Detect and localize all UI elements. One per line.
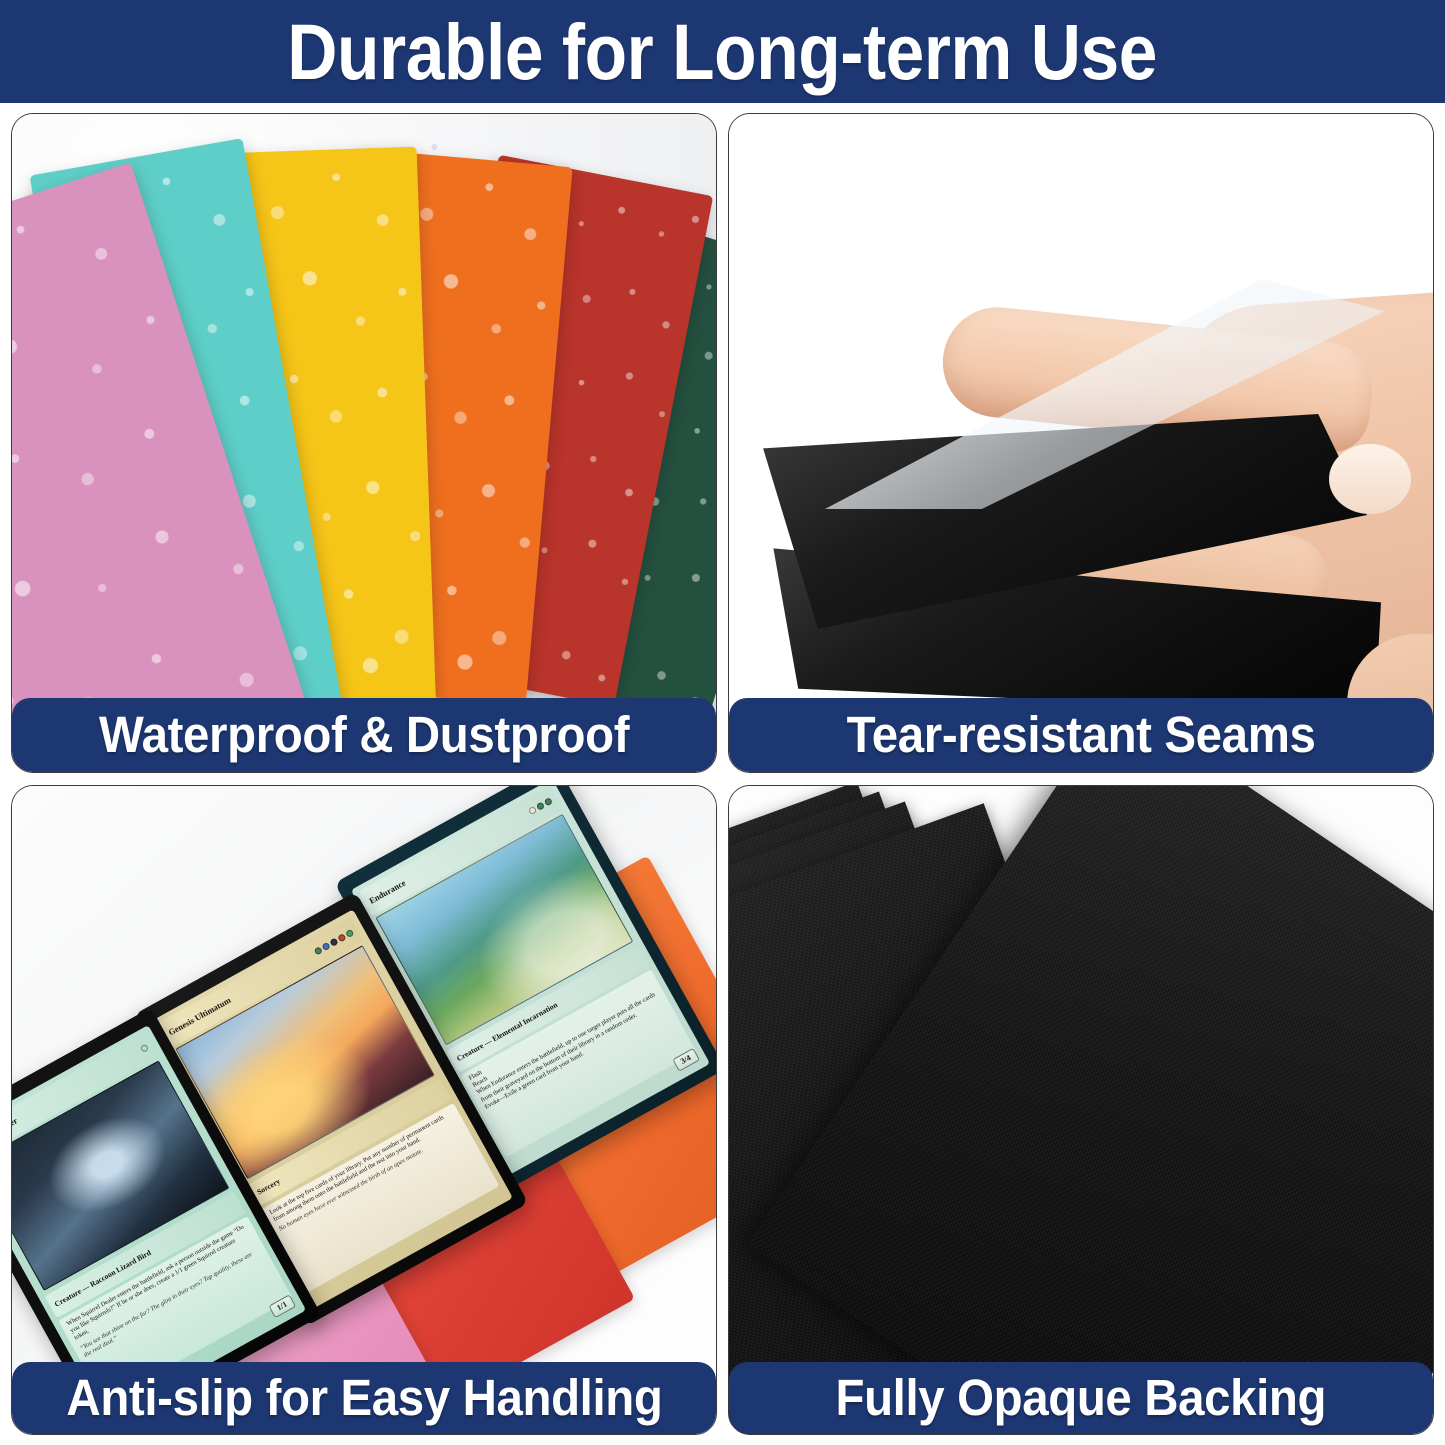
mana-pip-icon <box>329 937 339 947</box>
caption-bar-opaque-backing: Fully Opaque Backing <box>729 1362 1433 1434</box>
mana-cost <box>140 1044 150 1054</box>
panel-opaque-backing: Fully Opaque Backing <box>728 785 1434 1435</box>
header-banner: Durable for Long-term Use <box>0 0 1445 103</box>
opaque-backing-image <box>729 786 1433 1434</box>
card-typeline: Sorcery <box>256 1177 282 1197</box>
caption-bar-anti-slip: Anti-slip for Easy Handling <box>12 1362 716 1434</box>
anti-slip-image: Endurance Creature — Elemental Incarnati… <box>12 786 716 1434</box>
feature-grid: Waterproof & Dustproof <box>0 103 1445 1445</box>
mana-pip-icon <box>544 797 554 807</box>
caption-text: Waterproof & Dustproof <box>99 708 629 762</box>
mana-cost <box>528 797 553 815</box>
mana-pip-icon <box>321 942 331 952</box>
panel-waterproof: Waterproof & Dustproof <box>11 113 717 773</box>
panel-tear-resistant: Tear-resistant Seams <box>728 113 1434 773</box>
mana-cost <box>313 928 354 955</box>
tear-resistant-image <box>729 114 1433 772</box>
mana-pip-icon <box>528 806 538 816</box>
caption-text: Tear-resistant Seams <box>847 708 1316 762</box>
infographic-root: Durable for Long-term Use <box>0 0 1445 1445</box>
panel-anti-slip: Endurance Creature — Elemental Incarnati… <box>11 785 717 1435</box>
caption-text: Fully Opaque Backing <box>836 1371 1327 1425</box>
fingertip-nail <box>1329 444 1411 514</box>
card-name: Endurance <box>367 877 407 905</box>
mana-pip-icon <box>337 933 347 943</box>
caption-bar-tear-resistant: Tear-resistant Seams <box>729 698 1433 772</box>
mana-pip-icon <box>345 928 355 938</box>
caption-bar-waterproof: Waterproof & Dustproof <box>12 698 716 772</box>
caption-text: Anti-slip for Easy Handling <box>66 1371 662 1425</box>
page-title: Durable for Long-term Use <box>288 11 1158 93</box>
mana-pip-icon <box>536 802 546 812</box>
mana-pip-icon <box>313 946 323 956</box>
mana-pip-icon <box>140 1044 150 1054</box>
waterproof-image <box>12 114 716 772</box>
